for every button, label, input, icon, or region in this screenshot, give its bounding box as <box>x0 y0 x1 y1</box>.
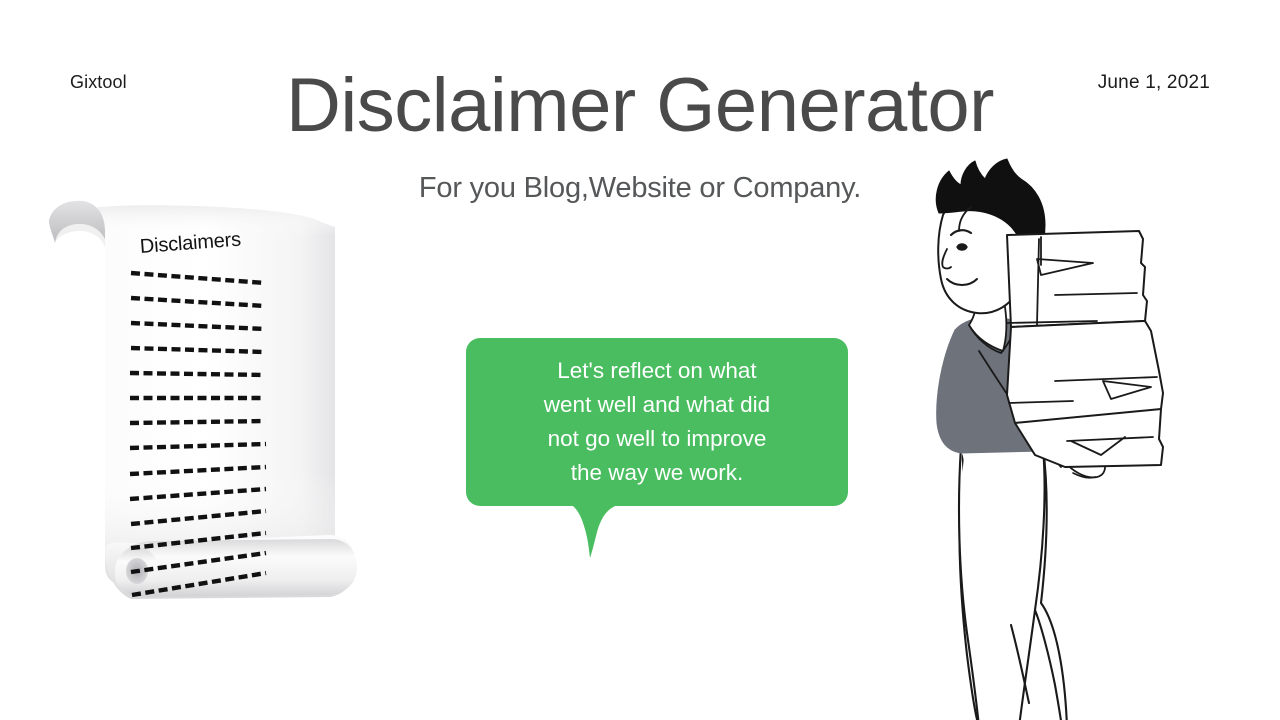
speech-bubble: Let's reflect on what went well and what… <box>466 338 848 563</box>
slide-canvas: Gixtool June 1, 2021 Disclaimer Generato… <box>0 0 1280 720</box>
page-title: Disclaimer Generator <box>0 58 1280 154</box>
speech-bubble-tail <box>570 498 622 560</box>
person-carrying-boxes-illustration <box>915 155 1215 720</box>
scroll-text-lines <box>35 195 380 645</box>
speech-bubble-text: Let's reflect on what went well and what… <box>466 338 848 506</box>
